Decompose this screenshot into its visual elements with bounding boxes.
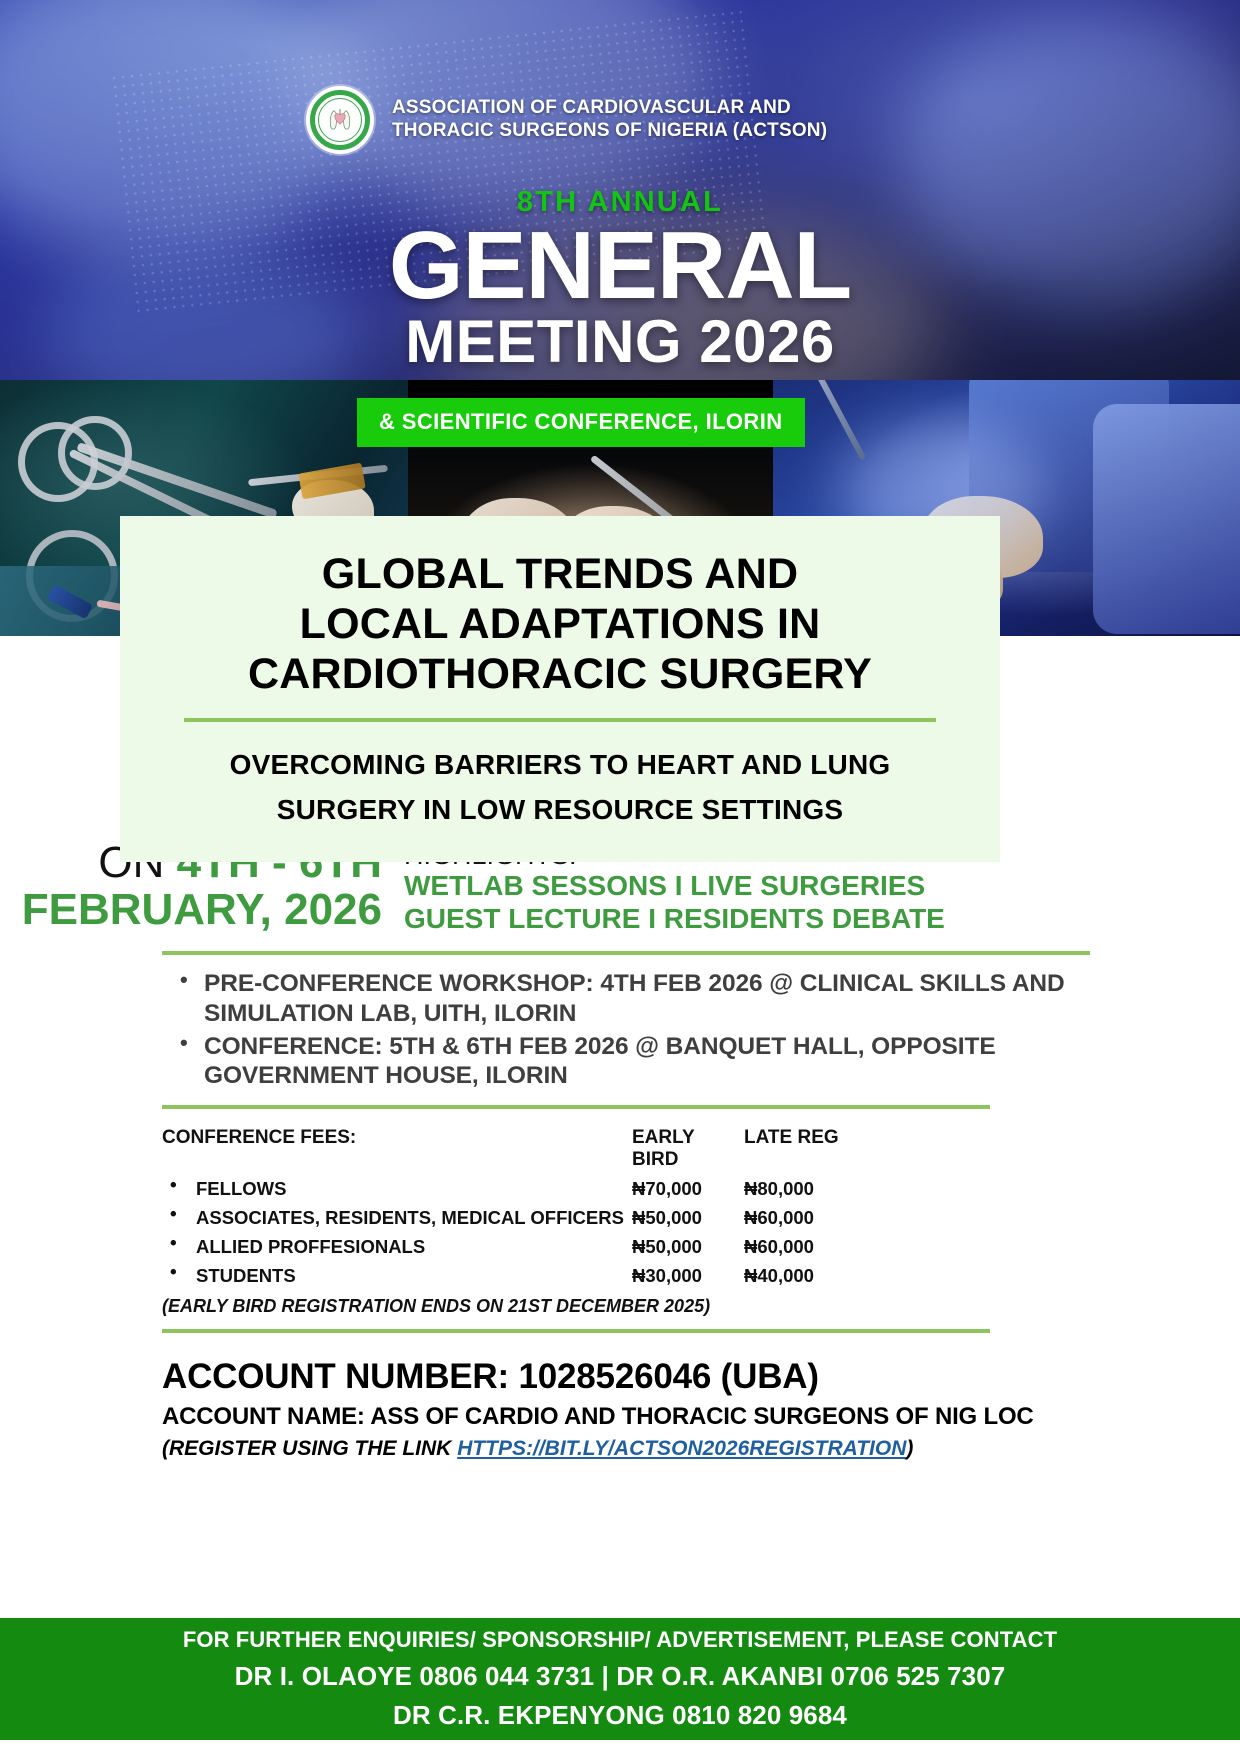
fees-late-value: ₦60,000: [744, 1207, 856, 1229]
early-bird-deadline-note: (EARLY BIRD REGISTRATION ENDS ON 21ST DE…: [162, 1296, 1240, 1317]
fees-header-row: CONFERENCE FEES: EARLY BIRD LATE REG: [162, 1127, 1240, 1171]
org-name-line-1: ASSOCIATION OF CARDIOVASCULAR AND: [392, 97, 827, 120]
highlights-line-2: GUEST LECTURE I RESIDENTS DEBATE: [404, 903, 1240, 935]
table-row: ALLIED PROFFESIONALS ₦50,000 ₦60,000: [162, 1236, 1240, 1258]
footer-contacts-line-1: DR I. OLAOYE 0806 044 3731 | DR O.R. AKA…: [0, 1661, 1240, 1692]
list-item: PRE-CONFERENCE WORKSHOP: 4TH FEB 2026 @ …: [178, 969, 1090, 1028]
fees-category: STUDENTS: [162, 1265, 632, 1287]
fees-early-value: ₦70,000: [632, 1178, 744, 1200]
fees-late-value: ₦60,000: [744, 1236, 856, 1258]
theme-title: GLOBAL TRENDS AND LOCAL ADAPTATIONS IN C…: [146, 550, 974, 700]
conference-ribbon: & SCIENTIFIC CONFERENCE, ILORIN: [357, 398, 805, 447]
conference-poster: ASSOCIATION OF CARDIOVASCULAR AND THORAC…: [0, 0, 1240, 1754]
fees-early-value: ₦50,000: [632, 1207, 744, 1229]
footer-enquiries-line: FOR FURTHER ENQUIRIES/ SPONSORSHIP/ ADVE…: [0, 1627, 1240, 1653]
theme-title-line-2: LOCAL ADAPTATIONS IN: [146, 600, 974, 650]
fees-column-late-reg: LATE REG: [744, 1127, 856, 1171]
organization-name: ASSOCIATION OF CARDIOVASCULAR AND THORAC…: [392, 97, 827, 143]
footer-contacts-line-2: DR C.R. EKPENYONG 0810 820 9684: [0, 1700, 1240, 1731]
hero-title-line-2: MEETING 2026: [0, 312, 1240, 372]
fees-category: FELLOWS: [162, 1178, 632, 1200]
contact-footer: FOR FURTHER ENQUIRIES/ SPONSORSHIP/ ADVE…: [0, 1618, 1240, 1740]
table-row: FELLOWS ₦70,000 ₦80,000: [162, 1178, 1240, 1200]
theme-subtitle-line-2: SURGERY IN LOW RESOURCE SETTINGS: [146, 787, 974, 832]
theme-subtitle-line-1: OVERCOMING BARRIERS TO HEART AND LUNG: [146, 742, 974, 787]
details-section: ON 4TH - 6TH FEBRUARY, 2026 HIGHLIGHTS: …: [0, 812, 1240, 1618]
registration-suffix: ): [906, 1437, 913, 1460]
fees-category: ASSOCIATES, RESIDENTS, MEDICAL OFFICERS: [162, 1207, 632, 1229]
list-item: CONFERENCE: 5TH & 6TH FEB 2026 @ BANQUET…: [178, 1032, 1090, 1091]
section-divider: [162, 1105, 990, 1109]
hero-title-line-1: GENERAL: [0, 218, 1240, 314]
fees-late-value: ₦80,000: [744, 1178, 856, 1200]
organization-brand: ASSOCIATION OF CARDIOVASCULAR AND THORAC…: [306, 86, 827, 154]
table-row: STUDENTS ₦30,000 ₦40,000: [162, 1265, 1240, 1287]
account-name: ACCOUNT NAME: ASS OF CARDIO AND THORACIC…: [162, 1403, 1240, 1431]
actson-lungs-heart-logo-icon: [306, 86, 374, 154]
theme-divider: [184, 718, 936, 722]
fees-late-value: ₦40,000: [744, 1265, 856, 1287]
highlights-line-1: WETLAB SESSONS I LIVE SURGERIES: [404, 870, 1240, 902]
theme-title-line-3: CARDIOTHORACIC SURGERY: [146, 650, 974, 700]
fees-early-value: ₦50,000: [632, 1236, 744, 1258]
fees-category: ALLIED PROFFESIONALS: [162, 1236, 632, 1258]
conference-fees-table: CONFERENCE FEES: EARLY BIRD LATE REG FEL…: [0, 1127, 1240, 1317]
fees-column-early-bird: EARLY BIRD: [632, 1127, 744, 1171]
registration-line: (REGISTER USING THE LINK HTTPS://BIT.LY/…: [162, 1437, 1240, 1461]
theme-subtitle: OVERCOMING BARRIERS TO HEART AND LUNG SU…: [146, 742, 974, 833]
fees-early-value: ₦30,000: [632, 1265, 744, 1287]
registration-prefix: (REGISTER USING THE LINK: [162, 1437, 457, 1460]
date-month-year: FEBRUARY, 2026: [0, 887, 382, 934]
section-divider: [162, 951, 1090, 955]
table-row: ASSOCIATES, RESIDENTS, MEDICAL OFFICERS …: [162, 1207, 1240, 1229]
theme-title-line-1: GLOBAL TRENDS AND: [146, 550, 974, 600]
hero-banner: ASSOCIATION OF CARDIOVASCULAR AND THORAC…: [0, 0, 1240, 380]
payment-details: ACCOUNT NUMBER: 1028526046 (UBA) ACCOUNT…: [0, 1333, 1240, 1461]
venue-list: PRE-CONFERENCE WORKSHOP: 4TH FEB 2026 @ …: [0, 969, 1240, 1091]
account-number: ACCOUNT NUMBER: 1028526046 (UBA): [162, 1357, 1240, 1397]
fees-title: CONFERENCE FEES:: [162, 1127, 632, 1171]
theme-box: GLOBAL TRENDS AND LOCAL ADAPTATIONS IN C…: [120, 516, 1000, 862]
org-name-line-2: THORACIC SURGEONS OF NIGERIA (ACTSON): [392, 120, 827, 143]
registration-link[interactable]: HTTPS://BIT.LY/ACTSON2026REGISTRATION: [457, 1437, 906, 1460]
